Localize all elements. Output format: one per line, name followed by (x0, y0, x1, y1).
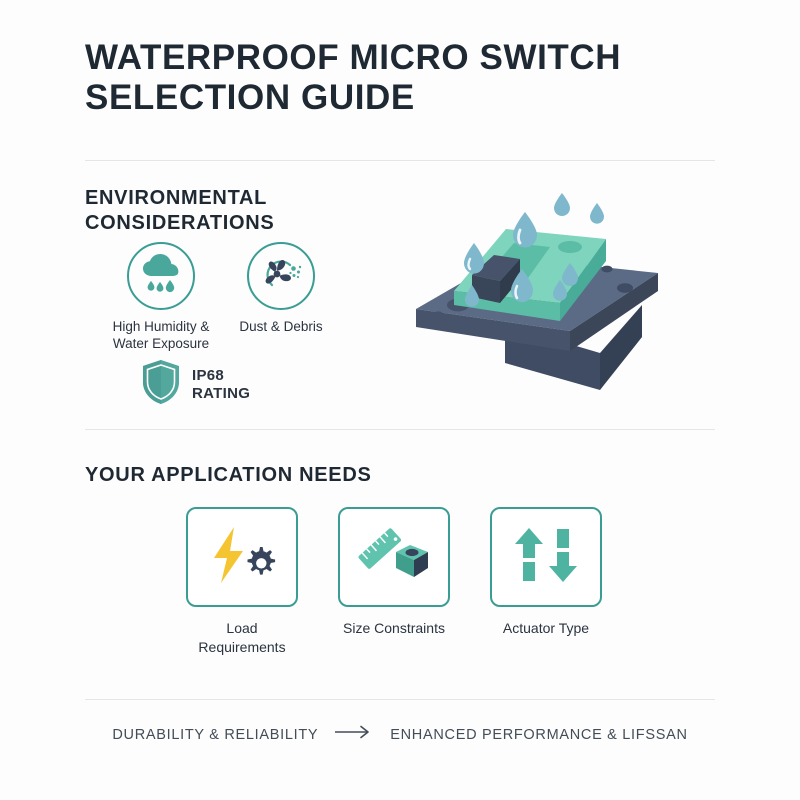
env-item-dust: Dust & Debris (226, 242, 336, 335)
env-label-humidity: High Humidity & Water Exposure (86, 318, 236, 352)
waterproof-micro-switch-illustration (410, 185, 700, 395)
app-card-box-actuator[interactable] (490, 507, 602, 607)
page-title-line-1: WATERPROOF MICRO SWITCH (85, 38, 705, 78)
shield-icon (140, 358, 182, 411)
env-icon-ring-dust (247, 242, 315, 310)
ruler-cube-icon (356, 522, 432, 593)
app-card-load-requirements[interactable]: Load Requirements (186, 507, 298, 657)
fan-dust-icon (256, 251, 306, 302)
ip-rating-label: IP68 RATING (192, 367, 250, 403)
arrow-right-icon (334, 725, 374, 744)
up-down-arrows-icon (511, 524, 581, 591)
app-card-label-size: Size Constraints (338, 619, 450, 638)
footer: DURABILITY & RELIABILITY ENHANCED PERFOR… (0, 725, 800, 744)
divider-top (85, 160, 715, 161)
ip-rating-block: IP68 RATING (140, 358, 250, 411)
section-heading-application: YOUR APPLICATION NEEDS (85, 463, 372, 488)
app-card-size-constraints[interactable]: Size Constraints (338, 507, 450, 638)
lightning-gear-icon (205, 523, 279, 592)
env-item-humidity: High Humidity & Water Exposure (86, 242, 236, 352)
footer-text-right: ENHANCED PERFORMANCE & LIFSSAN (390, 727, 687, 743)
env-label-dust: Dust & Debris (226, 318, 336, 335)
page-title-line-2: SELECTION GUIDE (85, 78, 705, 118)
app-card-box-size[interactable] (338, 507, 450, 607)
section-heading-environmental: ENVIRONMENTAL CONSIDERATIONS (85, 186, 335, 236)
app-card-label-actuator: Actuator Type (490, 619, 602, 638)
page-title: WATERPROOF MICRO SWITCH SELECTION GUIDE (85, 38, 705, 118)
env-icon-ring-humidity (127, 242, 195, 310)
divider-middle (85, 429, 715, 430)
infographic-page: WATERPROOF MICRO SWITCH SELECTION GUIDE … (0, 0, 800, 800)
divider-bottom (85, 699, 715, 700)
rain-cloud-icon (138, 252, 184, 301)
app-card-box-load[interactable] (186, 507, 298, 607)
app-card-label-load: Load Requirements (186, 619, 298, 657)
app-card-actuator-type[interactable]: Actuator Type (490, 507, 602, 638)
footer-text-left: DURABILITY & RELIABILITY (112, 727, 318, 743)
